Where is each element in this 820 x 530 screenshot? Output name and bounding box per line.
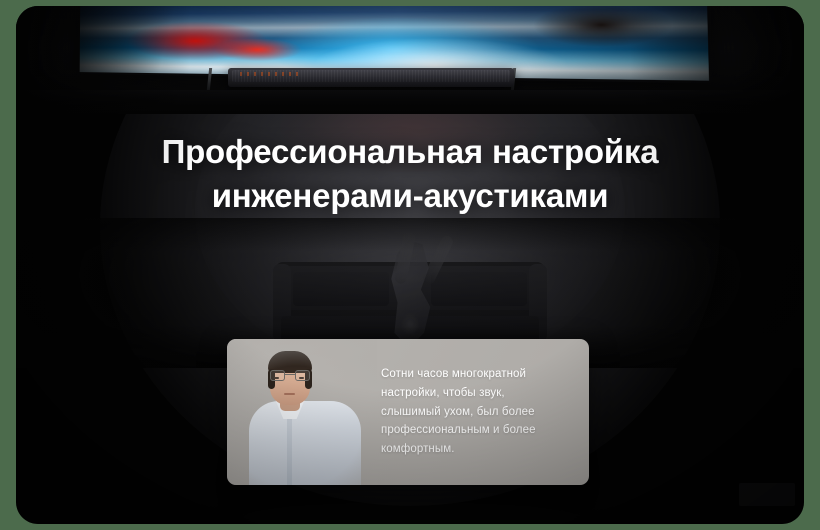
page-title: Профессиональная настройка инженерами-ак…	[16, 130, 804, 217]
headline-line-2: инженерами-акустиками	[76, 174, 744, 218]
sofa-cushion-right	[431, 272, 527, 306]
engineer-quote-card: Сотни часов многократной настройки, чтоб…	[227, 339, 589, 485]
tv-hero-stage	[16, 6, 804, 114]
portrait-mouth	[284, 393, 295, 395]
sofa-cushion-left	[293, 272, 389, 306]
portrait-shirt	[249, 401, 361, 485]
glasses-lens-left	[270, 370, 285, 381]
portrait-shirt-placket	[287, 415, 292, 485]
glasses-bridge	[285, 374, 295, 375]
glasses-lens-right	[295, 370, 310, 381]
glasses-icon	[269, 370, 311, 381]
engineer-portrait	[227, 339, 377, 485]
page-frame: Профессиональная настройка инженерами-ак…	[16, 6, 804, 524]
soundbar	[228, 68, 514, 87]
soundbar-led-indicators	[240, 72, 300, 76]
corner-panel	[739, 483, 795, 506]
quote-text: Сотни часов многократной настройки, чтоб…	[377, 365, 589, 458]
tv-shelf	[16, 90, 804, 114]
headline-line-1: Профессиональная настройка	[76, 130, 744, 174]
